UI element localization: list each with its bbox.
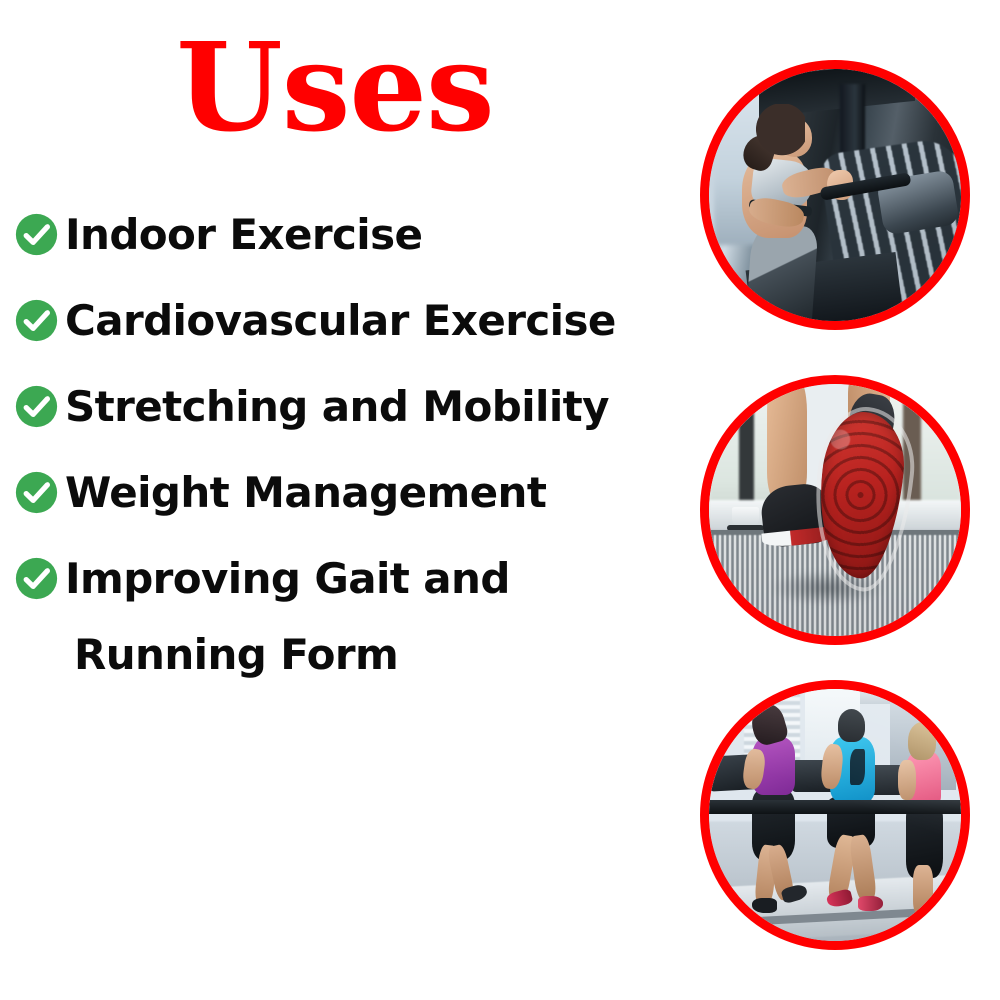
- list-item-label-line1: Improving Gait and: [65, 554, 510, 603]
- list-item: Weight Management: [14, 464, 674, 522]
- uses-infographic-poster: Uses Indoor Exercise Cardiovascular Exer…: [0, 0, 1000, 1000]
- list-item-label: Stretching and Mobility: [59, 378, 609, 436]
- list-item: Cardiovascular Exercise: [14, 292, 674, 350]
- list-item-label: Indoor Exercise: [59, 206, 422, 264]
- list-item-label: Cardiovascular Exercise: [59, 292, 616, 350]
- check-circle-icon: [14, 212, 59, 257]
- check-circle-icon: [14, 470, 59, 515]
- list-item: Indoor Exercise: [14, 206, 674, 264]
- list-item-label-line2: Running Form: [65, 626, 510, 684]
- check-circle-icon: [14, 556, 59, 601]
- check-circle-icon: [14, 384, 59, 429]
- list-item: Improving Gait and Running Form: [14, 550, 674, 684]
- list-item-label: Weight Management: [59, 464, 546, 522]
- check-circle-icon: [14, 298, 59, 343]
- uses-list: Indoor Exercise Cardiovascular Exercise …: [14, 206, 674, 712]
- woman-running-on-treadmill-photo: [700, 60, 970, 330]
- three-people-on-treadmills-photo: [700, 680, 970, 950]
- list-item-label-multiline: Improving Gait and Running Form: [59, 550, 510, 684]
- running-shoe-sole-photo: [700, 375, 970, 645]
- list-item: Stretching and Mobility: [14, 378, 674, 436]
